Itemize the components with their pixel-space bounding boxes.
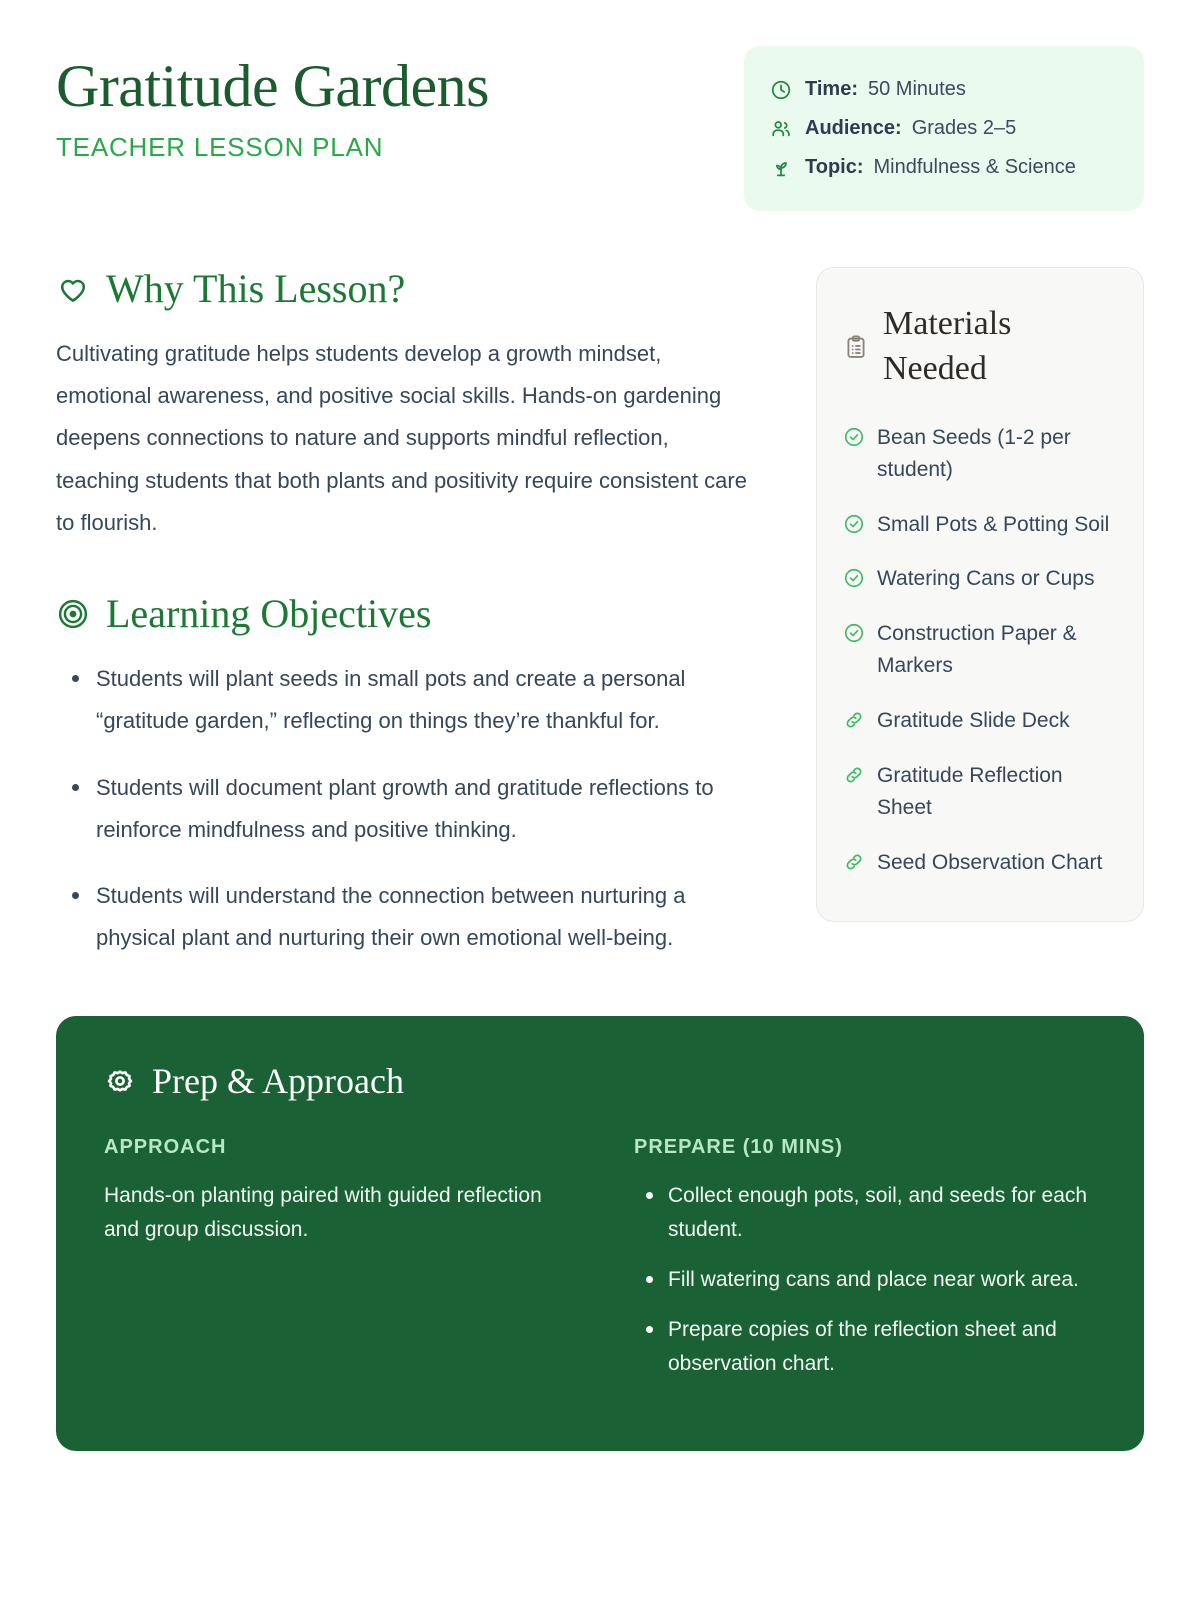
meta-value-time: 50 Minutes (868, 78, 966, 101)
side-column: Materials Needed Bean Seeds (1-2 per stu… (816, 267, 1144, 922)
list-item: Construction Paper & Markers (843, 618, 1117, 682)
list-item: Watering Cans or Cups (843, 563, 1117, 595)
materials-title: Materials Needed (883, 302, 1117, 392)
prepare-column: PREPARE (10 MINS) Collect enough pots, s… (634, 1136, 1096, 1381)
approach-text: Hands-on planting paired with guided ref… (104, 1179, 574, 1247)
link-icon (843, 764, 865, 786)
list-item: Students will plant seeds in small pots … (56, 658, 756, 742)
meta-value-audience: Grades 2–5 (912, 117, 1017, 140)
list-item: Prepare copies of the reflection sheet a… (634, 1313, 1096, 1381)
objectives-list: Students will plant seeds in small pots … (56, 658, 756, 959)
why-section-header: Why This Lesson? (56, 267, 756, 311)
body-grid: Why This Lesson? Cultivating gratitude h… (56, 267, 1144, 960)
prep-panel-title: Prep & Approach (152, 1060, 404, 1102)
clock-icon (770, 79, 792, 101)
approach-label: APPROACH (104, 1136, 574, 1159)
page-header: Gratitude Gardens TEACHER LESSON PLAN Ti… (56, 0, 1144, 211)
link-icon (843, 709, 865, 731)
list-item[interactable]: Gratitude Slide Deck (843, 705, 1117, 737)
sprout-icon (770, 157, 792, 179)
lesson-plan-page: Gratitude Gardens TEACHER LESSON PLAN Ti… (0, 0, 1200, 1600)
material-label: Seed Observation Chart (877, 847, 1102, 879)
list-item: Collect enough pots, soil, and seeds for… (634, 1179, 1096, 1247)
title-block: Gratitude Gardens TEACHER LESSON PLAN (56, 46, 489, 163)
check-circle-icon (843, 513, 865, 535)
list-item[interactable]: Seed Observation Chart (843, 847, 1117, 879)
list-item: Students will document plant growth and … (56, 767, 756, 851)
material-label: Small Pots & Potting Soil (877, 509, 1109, 541)
main-column: Why This Lesson? Cultivating gratitude h… (56, 267, 756, 960)
material-label: Gratitude Reflection Sheet (877, 760, 1117, 824)
meta-label-audience: Audience: (805, 117, 902, 140)
meta-label-topic: Topic: (805, 156, 864, 179)
gear-icon (104, 1065, 136, 1097)
objectives-section-header: Learning Objectives (56, 592, 756, 636)
prep-approach-panel: Prep & Approach APPROACH Hands-on planti… (56, 1016, 1144, 1451)
material-label: Gratitude Slide Deck (877, 705, 1070, 737)
material-label: Watering Cans or Cups (877, 563, 1094, 595)
materials-header: Materials Needed (843, 302, 1117, 392)
link-icon (843, 851, 865, 873)
list-item: Fill watering cans and place near work a… (634, 1263, 1096, 1297)
material-label: Construction Paper & Markers (877, 618, 1117, 682)
material-label: Bean Seeds (1-2 per student) (877, 422, 1117, 486)
prep-panel-header: Prep & Approach (104, 1060, 1096, 1102)
list-item: Small Pots & Potting Soil (843, 509, 1117, 541)
list-item[interactable]: Gratitude Reflection Sheet (843, 760, 1117, 824)
list-item: Students will understand the connection … (56, 875, 756, 959)
materials-card: Materials Needed Bean Seeds (1-2 per stu… (816, 267, 1144, 922)
prepare-list: Collect enough pots, soil, and seeds for… (634, 1179, 1096, 1381)
page-title: Gratitude Gardens (56, 54, 489, 119)
meta-value-topic: Mindfulness & Science (874, 156, 1076, 179)
page-subtitle: TEACHER LESSON PLAN (56, 132, 489, 163)
users-icon (770, 118, 792, 140)
check-circle-icon (843, 622, 865, 644)
prepare-label: PREPARE (10 MINS) (634, 1136, 1096, 1159)
meta-row-topic: Topic: Mindfulness & Science (770, 148, 1118, 187)
list-item: Bean Seeds (1-2 per student) (843, 422, 1117, 486)
objectives-section-title: Learning Objectives (106, 592, 431, 636)
meta-label-time: Time: (805, 78, 858, 101)
meta-row-time: Time: 50 Minutes (770, 70, 1118, 109)
approach-column: APPROACH Hands-on planting paired with g… (104, 1136, 574, 1381)
prep-columns: APPROACH Hands-on planting paired with g… (104, 1136, 1096, 1381)
why-section-title: Why This Lesson? (106, 267, 405, 311)
check-circle-icon (843, 426, 865, 448)
check-circle-icon (843, 567, 865, 589)
lesson-meta-card: Time: 50 Minutes Audience: Grades 2–5 (744, 46, 1144, 211)
meta-row-audience: Audience: Grades 2–5 (770, 109, 1118, 148)
target-icon (56, 597, 90, 631)
heart-icon (56, 272, 90, 306)
clipboard-icon (843, 334, 869, 360)
objectives-section: Learning Objectives Students will plant … (56, 592, 756, 959)
why-section-body: Cultivating gratitude helps students dev… (56, 333, 756, 544)
